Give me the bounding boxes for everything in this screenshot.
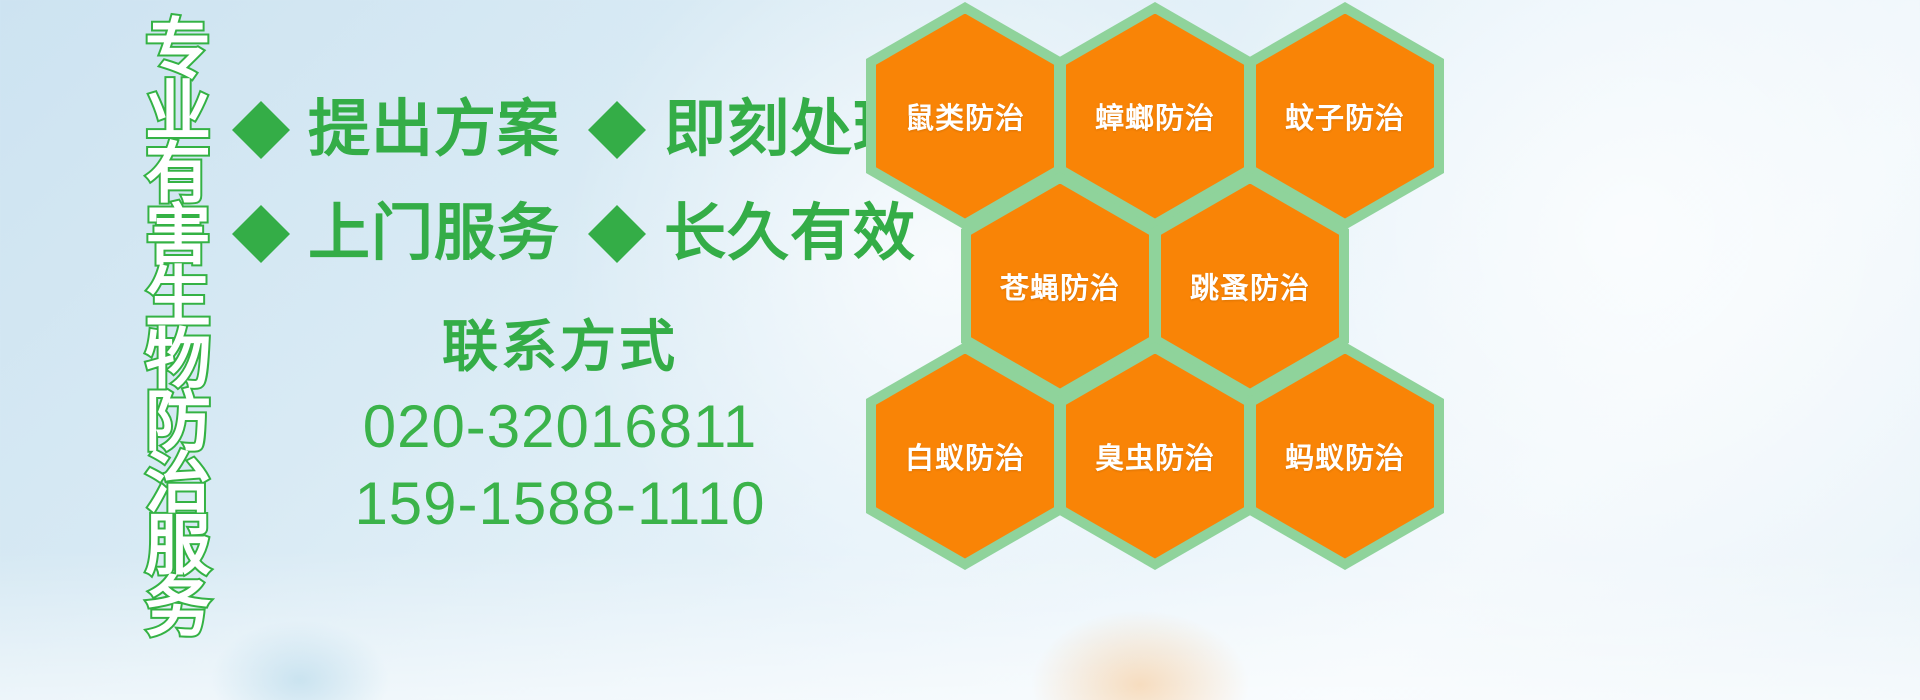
hex-label: 鼠类防治 <box>905 95 1025 137</box>
phone-number-landline[interactable]: 020-32016811 <box>300 389 820 466</box>
diamond-bullet-icon <box>232 176 290 234</box>
contact-title: 联系方式 <box>300 318 820 377</box>
feature-row: 提出方案 即刻处理 <box>232 78 916 182</box>
feature-label: 提出方案 <box>308 99 560 161</box>
diamond-bullet-icon <box>232 72 290 130</box>
feature-item: 提出方案 <box>232 99 560 161</box>
hex-inner: 跳蚤防治 <box>1161 184 1339 389</box>
hex-label: 跳蚤防治 <box>1190 265 1310 307</box>
feature-item: 上门服务 <box>232 203 560 265</box>
hex-inner: 臭虫防治 <box>1066 354 1244 559</box>
hex-inner: 蟑螂防治 <box>1066 14 1244 219</box>
vertical-brand-title: 专业有害生物防治服务 <box>108 14 204 634</box>
feature-label: 上门服务 <box>308 203 560 265</box>
feature-list: 提出方案 即刻处理 上门服务 长久有效 <box>232 78 916 286</box>
hex-inner: 苍蝇防治 <box>971 184 1149 389</box>
hex-inner: 鼠类防治 <box>876 14 1054 219</box>
hex-inner: 白蚁防治 <box>876 354 1054 559</box>
diamond-bullet-icon <box>588 176 646 234</box>
phone-number-mobile[interactable]: 159-1588-1110 <box>300 466 820 543</box>
feature-row: 上门服务 长久有效 <box>232 182 916 286</box>
hex-label: 蚊子防治 <box>1285 95 1405 137</box>
hex-label: 臭虫防治 <box>1095 435 1215 477</box>
hex-label: 蚂蚁防治 <box>1285 435 1405 477</box>
contact-block: 联系方式 020-32016811 159-1588-1110 <box>300 318 820 542</box>
diamond-bullet-icon <box>588 72 646 130</box>
hex-inner: 蚂蚁防治 <box>1256 354 1434 559</box>
hex-label: 苍蝇防治 <box>1000 265 1120 307</box>
background-blob-left <box>210 620 390 700</box>
service-honeycomb: 鼠类防治 蟑螂防治 蚊子防治 苍蝇防治 跳蚤防治 白蚁防治 臭虫防治 蚂蚁防 <box>866 0 1466 700</box>
hex-inner: 蚊子防治 <box>1256 14 1434 219</box>
hex-label: 白蚁防治 <box>905 435 1025 477</box>
hex-label: 蟑螂防治 <box>1095 95 1215 137</box>
